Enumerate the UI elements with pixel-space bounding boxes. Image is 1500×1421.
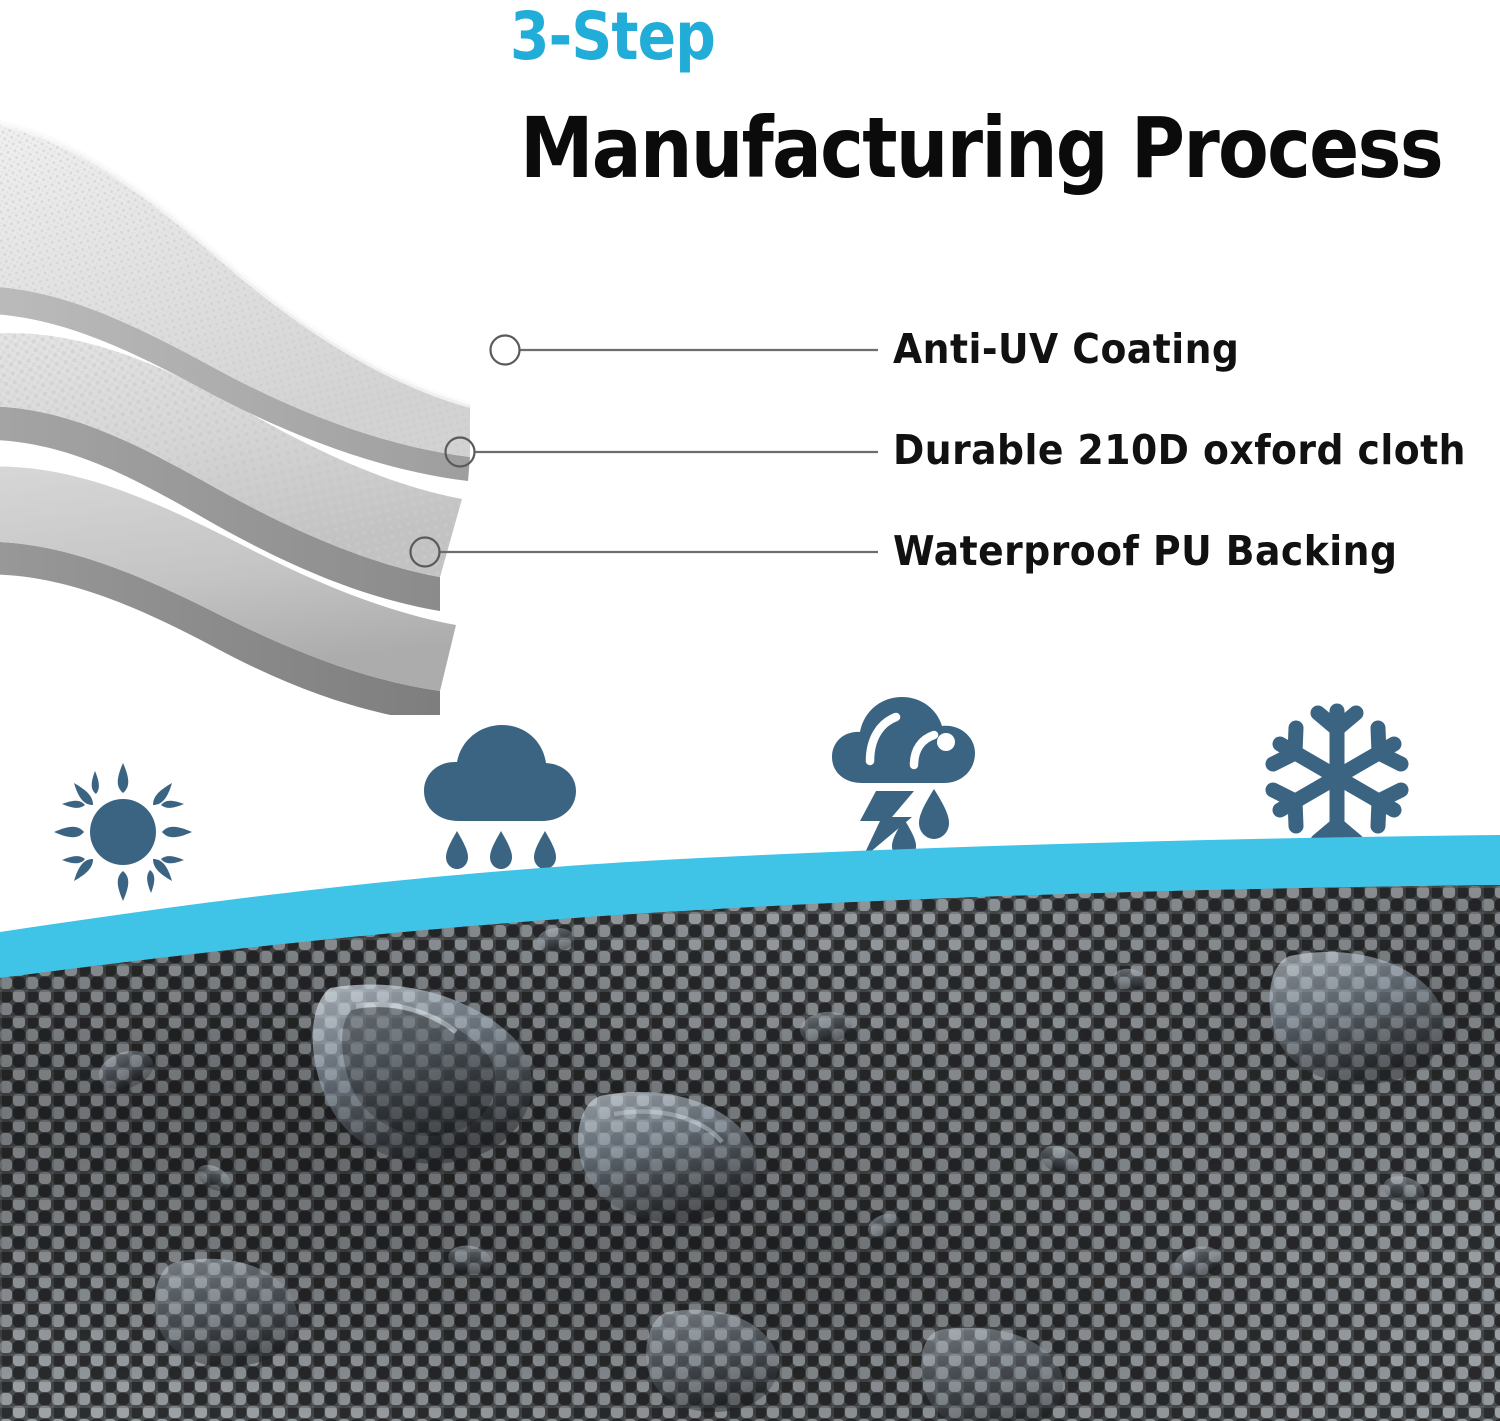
layer-stack-illustration	[0, 95, 580, 715]
header-block: 3-Step Manufacturing Process	[510, 0, 1410, 215]
snowflake-icon	[1252, 697, 1422, 857]
eyebrow-text: 3-Step	[510, 2, 715, 72]
infographic-canvas: 3-Step Manufacturing Process Anti-UV Coa…	[0, 0, 1500, 1421]
thunderstorm-icon	[818, 691, 998, 861]
page-title: Manufacturing Process	[520, 104, 1442, 192]
rain-cloud-icon	[412, 713, 602, 873]
callout-label-oxford: Durable 210D oxford cloth	[893, 426, 1466, 474]
fabric-closeup-photo	[0, 860, 1500, 1421]
callout-label-pu-backing: Waterproof PU Backing	[893, 527, 1397, 575]
callout-label-anti-uv: Anti-UV Coating	[893, 325, 1239, 373]
weather-icon-row	[0, 685, 1500, 865]
